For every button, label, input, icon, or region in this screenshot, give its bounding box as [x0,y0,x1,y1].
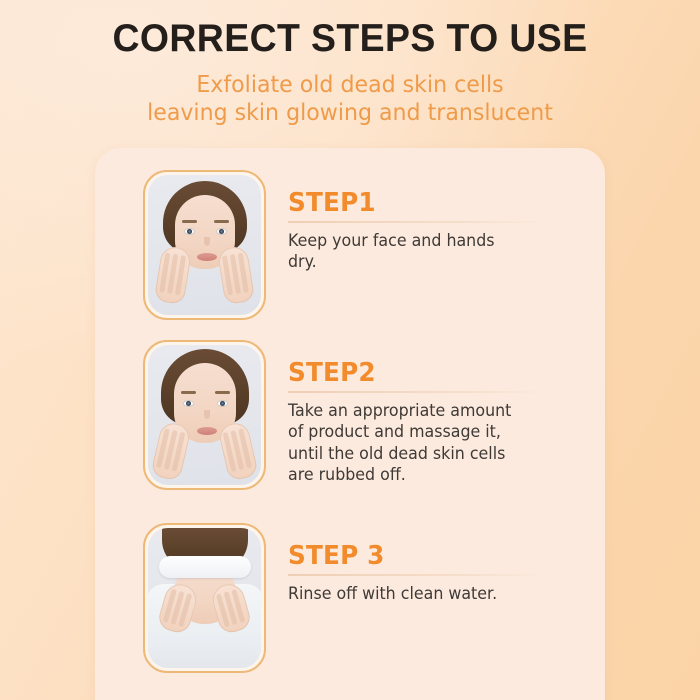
right-eye [217,400,228,407]
step-2-body: Take an appropriate amount of product an… [288,400,579,486]
nose [204,410,210,419]
step-1-divider [288,221,540,223]
step-3-heading: STEP 3 [288,541,576,571]
step-2-body-line-3: until the old dead skin cells [288,443,579,465]
steps-card: STEP1 Keep your face and hands dry. [95,148,605,700]
step-item-2: STEP2 Take an appropriate amount of prod… [95,340,605,490]
instruction-poster: CORRECT STEPS TO USE Exfoliate old dead … [0,0,700,700]
page-subtitle: Exfoliate old dead skin cells leaving sk… [21,62,679,126]
left-eye [184,228,195,235]
left-brow [181,391,196,394]
step-3-body: Rinse off with clean water. [288,583,579,605]
step-2-text: STEP2 Take an appropriate amount of prod… [288,340,605,486]
woman-patting-face-dry-photo [148,175,261,315]
right-brow [214,220,229,223]
step-2-body-line-2: of product and massage it, [288,421,579,443]
step-1-body-line-1: Keep your face and hands [288,230,579,252]
page-title: CORRECT STEPS TO USE [14,0,686,62]
step-3-photo-frame [143,523,266,673]
step-2-photo-frame [143,340,266,490]
lips [197,427,217,435]
right-brow [215,391,230,394]
woman-rinsing-face-with-water-photo [148,528,261,668]
white-headband [159,556,251,578]
right-eye [216,228,227,235]
step-2-divider [288,391,540,393]
left-eye [183,400,194,407]
nose [204,237,210,246]
left-hand [150,420,192,481]
step-item-3: STEP 3 Rinse off with clean water. [95,523,605,673]
step-1-heading: STEP1 [288,188,576,218]
step-1-body: Keep your face and hands dry. [288,230,579,273]
step-2-heading: STEP2 [288,358,576,388]
subtitle-line-2: leaving skin glowing and translucent [21,98,679,126]
lips [197,253,217,261]
step-3-divider [288,574,540,576]
step-1-body-line-2: dry. [288,251,579,273]
step-1-text: STEP1 Keep your face and hands dry. [288,170,605,273]
left-hand [154,245,192,305]
step-2-body-line-4: are rubbed off. [288,464,579,486]
poster-header: CORRECT STEPS TO USE Exfoliate old dead … [0,0,700,126]
left-brow [182,220,197,223]
subtitle-line-1: Exfoliate old dead skin cells [21,70,679,98]
woman-massaging-product-into-cheeks-photo [148,345,261,485]
step-1-photo-frame [143,170,266,320]
right-hand [217,420,259,481]
step-3-body-line-1: Rinse off with clean water. [288,583,579,605]
step-3-text: STEP 3 Rinse off with clean water. [288,523,605,604]
step-item-1: STEP1 Keep your face and hands dry. [95,170,605,320]
right-hand [217,245,255,305]
step-2-body-line-1: Take an appropriate amount [288,400,579,422]
